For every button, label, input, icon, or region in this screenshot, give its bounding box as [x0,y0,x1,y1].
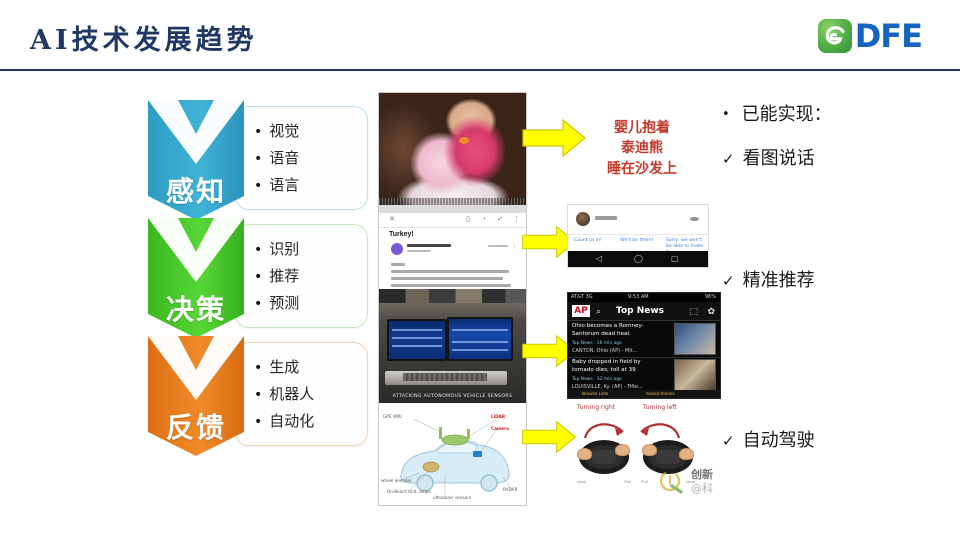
example-image-strip: ✕ ▯ ◔ ✓ ⋮ Turkey! ⋮ [378,92,527,506]
turning-right-label: Turning right [577,404,615,411]
av-sensor-lab-photo: ATTACKING AUTONOMOUS VEHICLE SENSORS [379,303,526,403]
list-item: 自动化 [254,410,367,433]
status-bar: AT&T 3G 9:53 AM 96% [568,293,720,302]
news-thumbnail [674,359,716,391]
achievements-heading-label: 已能实现： [742,104,832,125]
body-line [391,263,405,266]
turning-left-label: Turning left [643,404,677,411]
sender-name [595,216,617,220]
title-divider [0,69,960,71]
wheel-sub-label: clock [577,479,586,484]
smart-reply-option-2[interactable]: We'll be there! [620,238,660,244]
news-thumbnail [674,323,716,355]
news-footer: Browse Lists Saved Stories [568,390,720,398]
pacifier-detail [459,137,469,144]
email-subject: Turkey! [389,231,414,238]
archive-icon[interactable]: ▯ [465,217,471,223]
photo-content [379,93,526,205]
capability-flow: 视觉 语音 语言 感知 识别 [148,100,368,470]
brand-logo: DFE [818,18,922,54]
caption-line: 睡在沙发上 [572,159,712,179]
label-on-board-unit: On-Board Unit, amps [387,489,431,494]
autonomous-car-diagram: GPS /IMU LiDAR Camera wheel encoder On-B… [379,403,526,503]
visibility-icon[interactable] [690,217,699,221]
battery-label: 96% [705,294,716,301]
news-app-bar: AP ⌕ Top News ⬚ ✿ [568,302,720,321]
divider [568,357,720,358]
gear-icon[interactable]: ✿ [707,306,715,317]
avatar [391,243,403,255]
news-headline[interactable]: Ohio becomes a Romney-Santorum dead heat [572,323,664,339]
flow-stage-label: 感知 [148,170,244,210]
android-nav-bar: ◁ ◯ ▢ [568,251,708,267]
sender-name [407,244,451,247]
email-ui: ✕ ▯ ◔ ✓ ⋮ Turkey! ⋮ [379,205,526,303]
body-line [391,277,503,280]
check-icon: ✓ [722,272,735,290]
achievement-label: 自动驾驶 [743,430,815,451]
list-item: 推荐 [254,265,367,288]
search-icon[interactable]: ⌕ [596,306,601,317]
news-meta: Top News · 32 min ago [572,377,672,382]
check-icon: ✓ [722,432,735,450]
watermark-line-2: @科 [691,482,713,496]
list-item: 预测 [254,292,367,315]
achievement-item-self-driving: ✓自动驾驶 [722,426,815,452]
hand-icon [577,448,592,460]
slide-header: AI技术发展趋势 DFE [0,0,960,71]
wheel-sub-label: Pull [624,479,631,484]
email-app-screenshot: ✕ ▯ ◔ ✓ ⋮ Turkey! ⋮ [379,205,526,303]
timestamp [488,245,508,247]
close-icon[interactable]: ✕ [389,217,395,223]
label-gps-imu: GPS /IMU [383,414,402,419]
check-icon: ✓ [722,150,735,168]
avatar [576,212,590,226]
footer-browse-lists[interactable]: Browse Lists [582,391,608,396]
baby-teddy-photo [379,93,526,205]
list-item: 机器人 [254,383,367,406]
more-icon[interactable]: ⋮ [511,244,518,250]
list-item: 语音 [254,147,367,170]
hand-icon [615,444,630,456]
smart-reply-option-1[interactable]: Count us in! [574,238,614,244]
divider [568,234,708,235]
label-ultrasonic: ultrasonic sensors [433,495,471,500]
attachment-strip [379,289,526,303]
flow-stage-decision: 识别 推荐 预测 决策 [148,218,368,338]
wheel-sub-label: Pull [641,479,648,484]
status-bar [379,205,526,213]
clock-label: 9:53 AM [628,294,649,301]
email-toolbar: ✕ ▯ ◔ ✓ ⋮ [379,213,526,228]
news-section-title: Top News [616,305,664,317]
footer-saved-stories[interactable]: Saved Stories [646,391,675,396]
achievements-column: •已能实现： ✓看图说话 ✓精准推荐 ✓自动驾驶 [722,96,952,486]
check-icon[interactable]: ✓ [497,217,503,223]
body-line [391,270,509,273]
page-title: AI技术发展趋势 [30,18,258,57]
home-icon[interactable]: ◯ [634,255,643,263]
label-lidar: LiDAR [491,414,505,419]
flow-stage-label: 反馈 [148,406,244,446]
news-headline[interactable]: Baby dropped in field by tornado dies; t… [572,359,664,375]
hand-icon [642,444,657,456]
carrier-label: AT&T 3G [571,294,593,301]
keyboard [403,373,487,381]
hand-icon [679,448,694,460]
flow-stage-decision-items: 识别 推荐 预测 [235,224,368,328]
list-item: 语言 [254,174,367,197]
monitor-right [447,317,513,361]
more-icon[interactable]: ⋮ [513,217,519,223]
list-item: 视觉 [254,120,367,143]
bullet-glyph: • [722,107,730,122]
news-meta: Top News · 16 min ago [572,341,672,346]
list-item: 生成 [254,356,367,379]
watermark-text: 创新 @科 [691,468,713,496]
slide-root: AI技术发展趋势 DFE 视觉 语音 语言 [0,0,960,540]
achievements-heading: •已能实现： [722,100,832,126]
label-radar: RADAR [503,487,518,492]
caption-line: 婴儿抱着 [572,118,712,138]
caption-line: 泰迪熊 [572,138,712,158]
smart-reply-card: Count us in! We'll be there! Sorry, we w… [567,204,709,268]
filmstrip-detail [379,198,526,205]
label-wheel-encoder: wheel encoder [381,478,412,483]
back-icon[interactable]: ◁ [596,255,602,263]
news-app-screenshot: AT&T 3G 9:53 AM 96% AP ⌕ Top News ⬚ ✿ Oh… [567,292,721,399]
watermark-line-1: 创新 [691,468,713,482]
image-caption-output: 婴儿抱着 泰迪熊 睡在沙发上 [572,118,712,179]
flow-stage-perception-items: 视觉 语音 语言 [235,106,368,210]
achievement-item-captioning: ✓看图说话 [722,144,815,170]
achievement-item-recommendation: ✓精准推荐 [722,266,815,292]
sender-address [407,250,431,252]
list-item: 识别 [254,238,367,261]
flow-stage-perception: 视觉 语音 语言 感知 [148,100,368,220]
label-camera: Camera [491,426,509,431]
compose-icon[interactable]: ⬚ [689,306,698,317]
logo-text: DFE [855,20,922,52]
car-diagram-content: GPS /IMU LiDAR Camera wheel encoder On-B… [379,403,526,503]
achievement-label: 看图说话 [743,148,815,169]
e-swirl-icon [818,19,852,53]
ap-logo: AP [572,305,590,317]
news-source: CANTON, Ohio (AP) - Mit... [572,348,676,354]
achievement-label: 精准推荐 [743,270,815,291]
flow-stage-feedback: 生成 机器人 自动化 反馈 [148,336,368,456]
flow-stage-label: 决策 [148,288,244,328]
photo-content: ATTACKING AUTONOMOUS VEHICLE SENSORS [379,303,526,403]
body-line [391,284,511,287]
flow-stage-feedback-items: 生成 机器人 自动化 [235,342,368,446]
clock-icon[interactable]: ◔ [481,217,487,223]
recents-icon[interactable]: ▢ [671,255,679,263]
steering-wheel-right: clock Pull [575,440,633,482]
monitor-left [387,319,447,361]
lab-photo-caption: ATTACKING AUTONOMOUS VEHICLE SENSORS [379,394,526,399]
